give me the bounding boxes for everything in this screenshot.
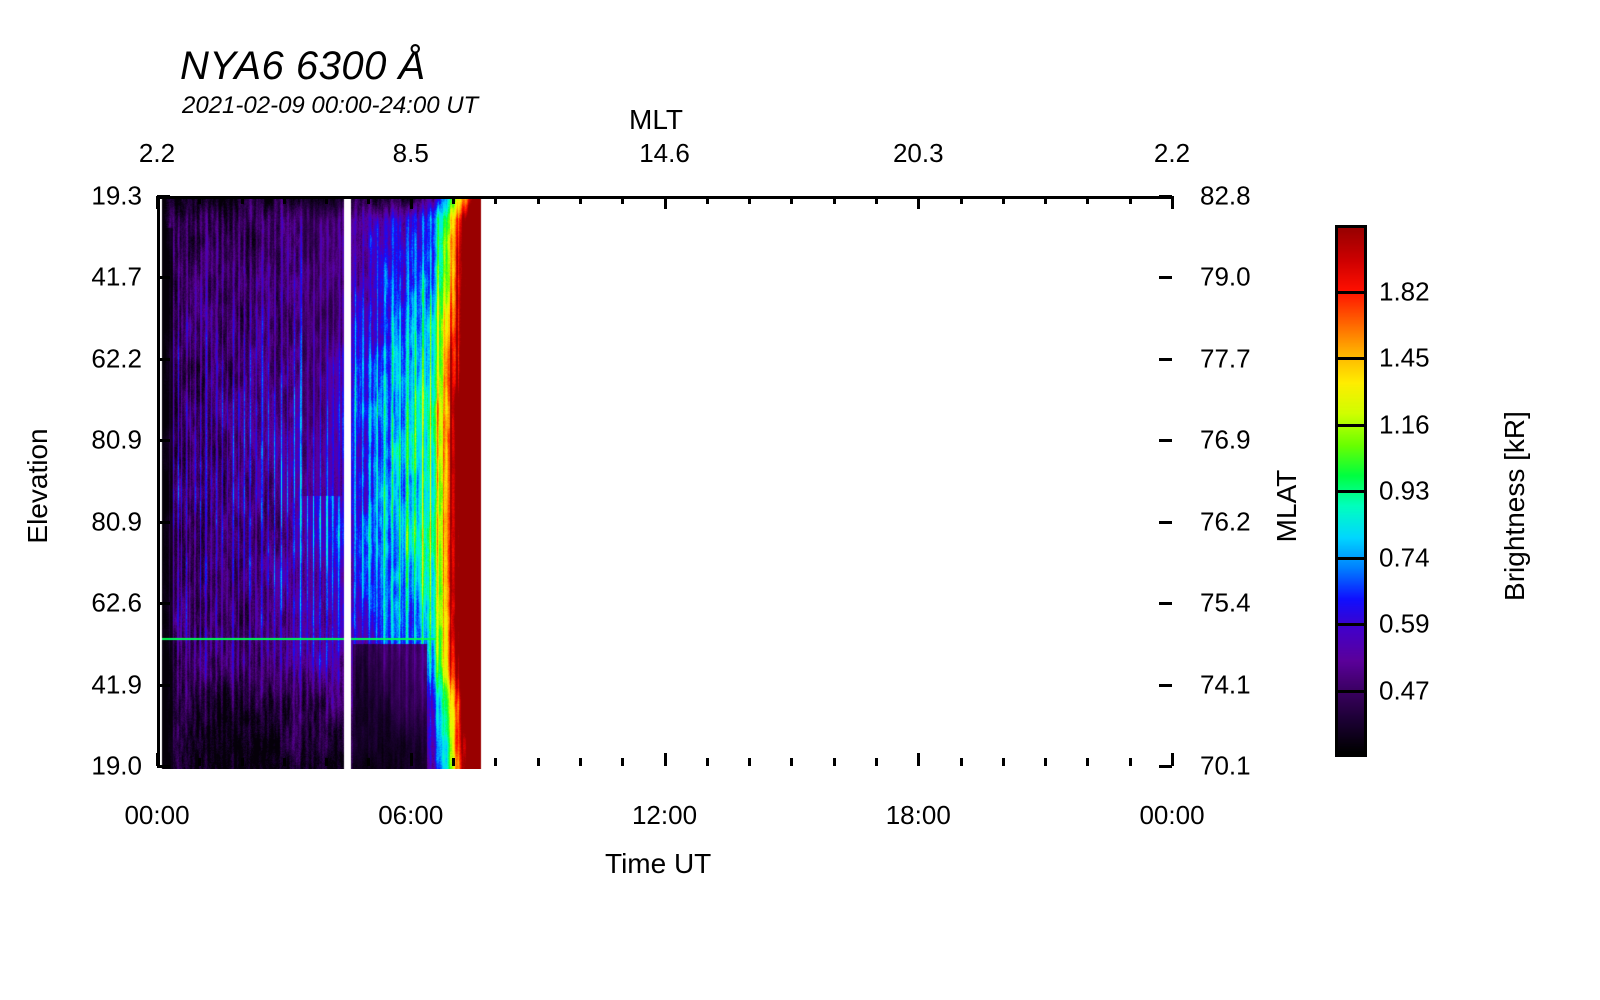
- page-subtitle: 2021-02-09 00:00-24:00 UT: [182, 92, 478, 120]
- x-tick-minor-bottom: [1129, 758, 1132, 766]
- mlat-tick-label: 76.2: [1200, 506, 1251, 537]
- x-tick-minor-bottom: [537, 758, 540, 766]
- mlat-tick-label: 74.1: [1200, 669, 1251, 700]
- x-tick-minor-top: [283, 196, 286, 204]
- colorbar-tick-label: 1.45: [1379, 343, 1430, 374]
- colorbar-divider: [1335, 424, 1367, 427]
- x-tick-minor-bottom: [283, 758, 286, 766]
- elevation-tick-label: 62.6: [60, 588, 142, 619]
- x-tick-minor-bottom: [960, 758, 963, 766]
- colorbar-tick-label: 0.93: [1379, 476, 1430, 507]
- x-tick-minor-bottom: [790, 758, 793, 766]
- keogram-figure: NYA6 6300 Å 2021-02-09 00:00-24:00 UT ML…: [0, 0, 1600, 1000]
- mlat-tick-label: 82.8: [1200, 181, 1251, 212]
- x-tick-minor-top: [241, 196, 244, 204]
- elevation-tick-label: 80.9: [60, 425, 142, 456]
- colorbar-title: Brightness [kR]: [1499, 381, 1531, 631]
- x-tick-minor-bottom: [241, 758, 244, 766]
- colorbar-tick-label: 0.47: [1379, 675, 1430, 706]
- x-tick-minor-top: [706, 196, 709, 204]
- x-tick-minor-bottom: [875, 758, 878, 766]
- y-tick-major-left: [157, 358, 170, 361]
- x-tick-minor-top: [960, 196, 963, 204]
- top-axis-title: MLT: [629, 104, 683, 136]
- colorbar-tick-label: 0.74: [1379, 542, 1430, 573]
- x-tick-minor-top: [537, 196, 540, 204]
- elevation-tick-label: 19.3: [60, 181, 142, 212]
- y-tick-major-left: [157, 602, 170, 605]
- elevation-tick-label: 80.9: [60, 506, 142, 537]
- y-tick-major-left: [157, 439, 170, 442]
- x-tick-minor-bottom: [494, 758, 497, 766]
- x-tick-minor-bottom: [198, 758, 201, 766]
- y-tick-major-left: [157, 521, 170, 524]
- time-tick-label: 12:00: [632, 800, 697, 831]
- y-tick-major-left: [157, 684, 170, 687]
- y-tick-major-right: [1159, 276, 1172, 279]
- x-tick-minor-bottom: [452, 758, 455, 766]
- elevation-tick-label: 41.9: [60, 669, 142, 700]
- x-tick-minor-top: [579, 196, 582, 204]
- colorbar-divider: [1335, 291, 1367, 294]
- x-tick-minor-top: [790, 196, 793, 204]
- mlat-tick-label: 70.1: [1200, 751, 1251, 782]
- x-tick-minor-top: [748, 196, 751, 204]
- x-tick-minor-top: [1044, 196, 1047, 204]
- x-tick-major-top: [917, 196, 920, 209]
- mlt-tick-label: 14.6: [639, 138, 690, 169]
- left-axis-title: Elevation: [22, 406, 54, 566]
- keogram-image: [160, 199, 1175, 769]
- colorbar-tick-label: 1.82: [1379, 276, 1430, 307]
- colorbar-divider: [1335, 490, 1367, 493]
- mlt-tick-label: 8.5: [393, 138, 429, 169]
- y-tick-major-right: [1159, 439, 1172, 442]
- x-tick-minor-top: [1086, 196, 1089, 204]
- y-tick-major-right: [1159, 684, 1172, 687]
- colorbar-tick-label: 1.16: [1379, 409, 1430, 440]
- x-tick-minor-top: [621, 196, 624, 204]
- right-axis-title: MLAT: [1271, 426, 1303, 586]
- x-tick-major-bottom: [917, 753, 920, 766]
- y-tick-major-right: [1159, 602, 1172, 605]
- x-axis-title: Time UT: [605, 848, 711, 880]
- x-tick-minor-bottom: [706, 758, 709, 766]
- elevation-tick-label: 62.2: [60, 343, 142, 374]
- y-tick-major-right: [1159, 765, 1172, 768]
- y-tick-major-left: [157, 765, 170, 768]
- colorbar-divider: [1335, 690, 1367, 693]
- mlat-tick-label: 76.9: [1200, 425, 1251, 456]
- x-tick-minor-bottom: [1002, 758, 1005, 766]
- x-tick-minor-bottom: [1044, 758, 1047, 766]
- y-tick-major-right: [1159, 521, 1172, 524]
- x-tick-minor-bottom: [621, 758, 624, 766]
- x-tick-minor-top: [875, 196, 878, 204]
- x-tick-minor-top: [367, 196, 370, 204]
- y-tick-major-left: [157, 195, 170, 198]
- elevation-tick-label: 19.0: [60, 751, 142, 782]
- x-tick-minor-top: [325, 196, 328, 204]
- colorbar-divider: [1335, 557, 1367, 560]
- x-tick-minor-bottom: [325, 758, 328, 766]
- x-tick-major-bottom: [410, 753, 413, 766]
- mlat-tick-label: 79.0: [1200, 262, 1251, 293]
- time-tick-label: 00:00: [124, 800, 189, 831]
- x-tick-minor-top: [1002, 196, 1005, 204]
- mlt-tick-label: 20.3: [893, 138, 944, 169]
- x-tick-minor-top: [452, 196, 455, 204]
- colorbar-tick-label: 0.59: [1379, 609, 1430, 640]
- x-tick-major-top: [664, 196, 667, 209]
- y-tick-major-right: [1159, 195, 1172, 198]
- x-tick-minor-top: [198, 196, 201, 204]
- y-tick-major-left: [157, 276, 170, 279]
- mlat-tick-label: 75.4: [1200, 588, 1251, 619]
- x-tick-minor-bottom: [833, 758, 836, 766]
- x-tick-major-top: [410, 196, 413, 209]
- mlat-tick-label: 77.7: [1200, 343, 1251, 374]
- x-tick-minor-bottom: [1086, 758, 1089, 766]
- time-tick-label: 00:00: [1139, 800, 1204, 831]
- x-tick-minor-bottom: [579, 758, 582, 766]
- x-tick-minor-top: [1129, 196, 1132, 204]
- time-tick-label: 18:00: [886, 800, 951, 831]
- colorbar: [1335, 225, 1367, 757]
- x-tick-minor-bottom: [367, 758, 370, 766]
- page-title: NYA6 6300 Å: [180, 44, 426, 89]
- colorbar-divider: [1335, 357, 1367, 360]
- time-tick-label: 06:00: [378, 800, 443, 831]
- x-tick-minor-bottom: [748, 758, 751, 766]
- mlt-tick-label: 2.2: [1154, 138, 1190, 169]
- x-tick-minor-top: [494, 196, 497, 204]
- mlt-tick-label: 2.2: [139, 138, 175, 169]
- y-tick-major-right: [1159, 358, 1172, 361]
- colorbar-divider: [1335, 623, 1367, 626]
- x-tick-major-bottom: [664, 753, 667, 766]
- plot-area: [157, 196, 1172, 766]
- elevation-tick-label: 41.7: [60, 262, 142, 293]
- x-tick-minor-top: [833, 196, 836, 204]
